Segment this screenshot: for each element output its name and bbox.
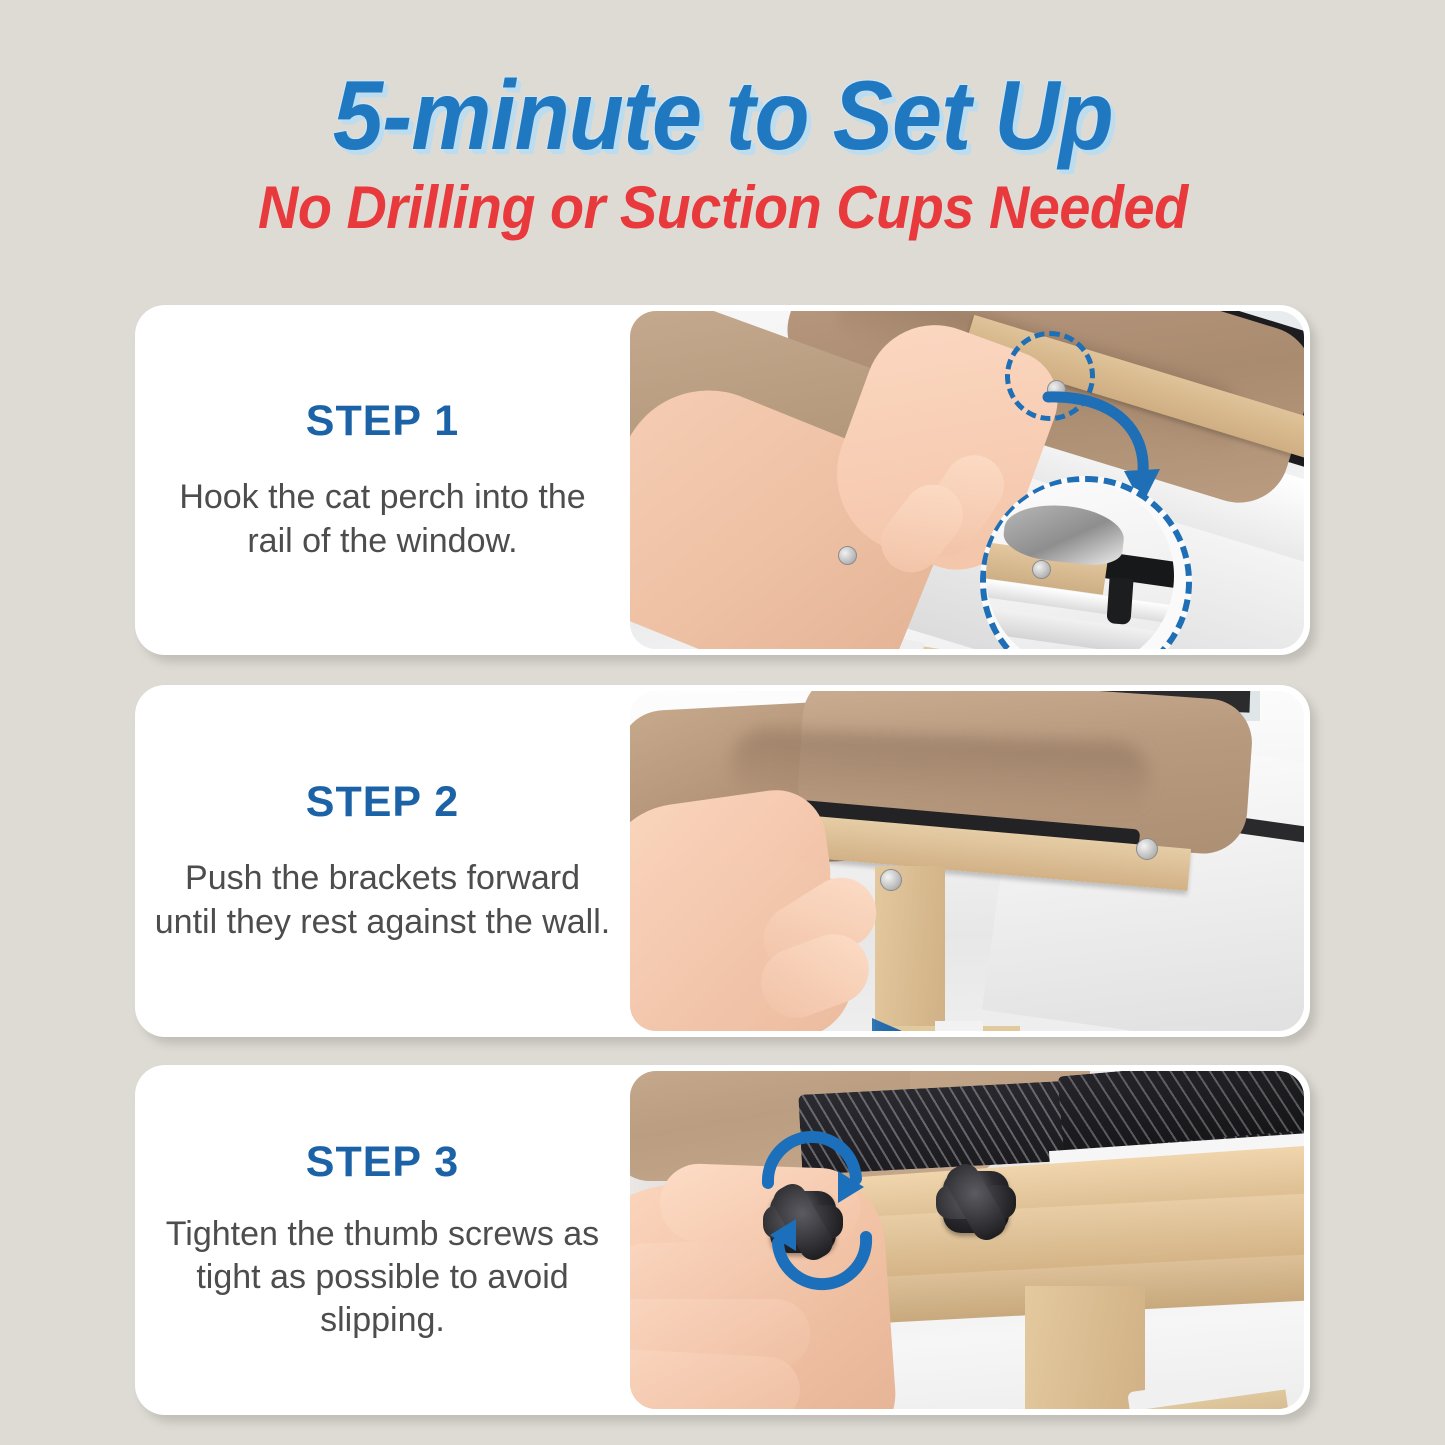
- thumb-screw-knob-icon: [943, 1171, 1009, 1233]
- photo-1-screw: [838, 546, 857, 565]
- step-1-text-block: STEP 1 Hook the cat perch into the rail …: [135, 305, 630, 655]
- step-3-text-block: STEP 3 Tighten the thumb screws as tight…: [135, 1065, 630, 1415]
- step-1-label: STEP 1: [306, 397, 459, 446]
- step-1-description: Hook the cat perch into the rail of the …: [153, 476, 613, 562]
- step-2-label: STEP 2: [306, 778, 459, 827]
- header: 5-minute to Set Up No Drilling or Suctio…: [0, 0, 1445, 290]
- inset-hook-tab: [1106, 577, 1133, 625]
- photo-2-screw: [880, 869, 902, 891]
- circular-rotation-arrow-icon: [738, 1131, 898, 1291]
- step-card-3: STEP 3 Tighten the thumb screws as tight…: [135, 1065, 1310, 1415]
- step-card-1: STEP 1 Hook the cat perch into the rail …: [135, 305, 1310, 655]
- step-2-photo: [630, 691, 1304, 1031]
- inset-screw: [1032, 560, 1051, 579]
- step-1-photo: [630, 311, 1304, 649]
- photo-3-leg-brace: [1025, 1286, 1145, 1409]
- step-card-2: STEP 2 Push the brackets forward until t…: [135, 685, 1310, 1037]
- step-2-text-block: STEP 2 Push the brackets forward until t…: [135, 685, 630, 1037]
- page-title: 5-minute to Set Up: [333, 66, 1113, 164]
- right-arrow-icon: [800, 1016, 920, 1031]
- photo-2-bracket-beam: [875, 866, 945, 1031]
- step-3-label: STEP 3: [306, 1138, 459, 1187]
- step-3-description: Tighten the thumb screws as tight as pos…: [153, 1213, 613, 1343]
- photo-2-hook-notch: [935, 1021, 983, 1031]
- step-3-photo: [630, 1071, 1304, 1409]
- step-2-description: Push the brackets forward until they res…: [153, 857, 613, 943]
- photo-1-magnified-inset: [986, 482, 1174, 649]
- page-subtitle: No Drilling or Suction Cups Needed: [258, 178, 1188, 238]
- photo-2-screw: [1136, 838, 1158, 860]
